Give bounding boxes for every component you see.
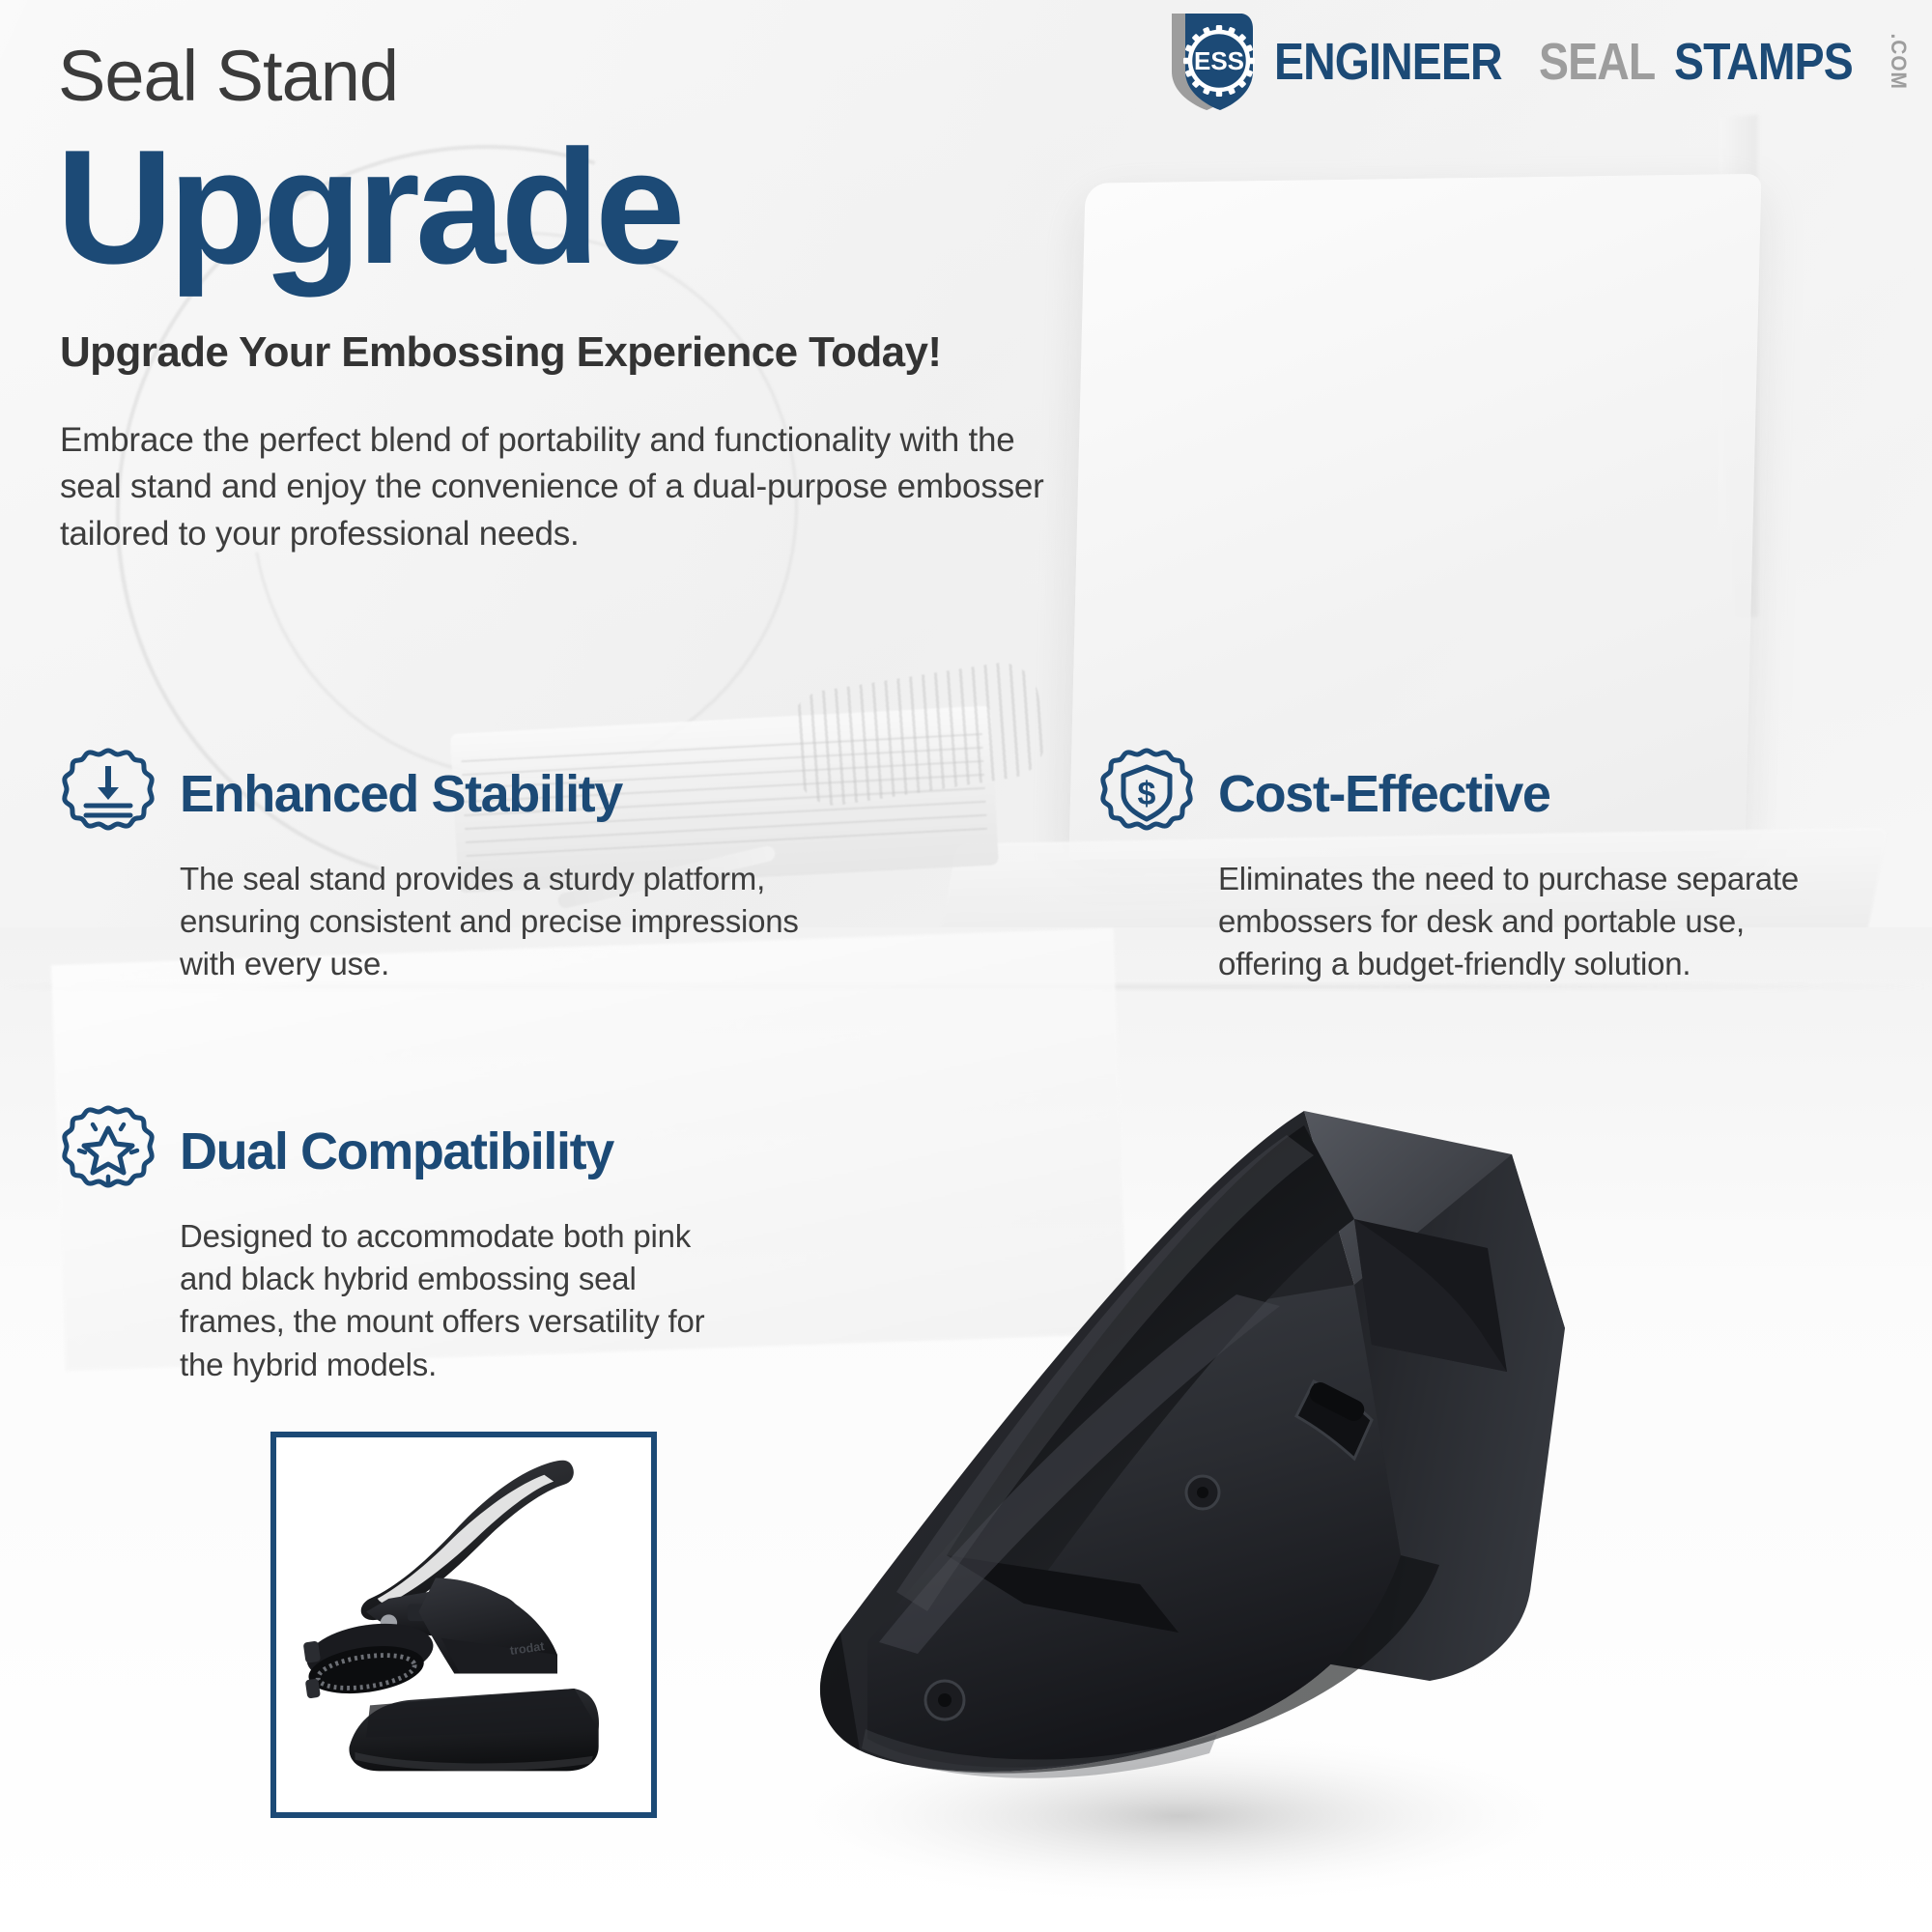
ess-badge-label: ESS: [1194, 46, 1244, 75]
infographic-poster: ESS ENGINEER SEAL STAMPS .COM Seal Stand…: [0, 0, 1932, 1932]
emboss-press-badge-icon: [58, 744, 158, 844]
inset-product-photo: trodat: [270, 1432, 657, 1818]
feature-enhanced-stability: Enhanced Stability The seal stand provid…: [58, 744, 898, 986]
feature-title: Enhanced Stability: [180, 768, 622, 820]
feature-header: $ Cost-Effective: [1096, 744, 1908, 844]
brand-wordmark: ENGINEER SEAL STAMPS .COM: [1274, 32, 1911, 91]
page-subheading: Upgrade Your Embossing Experience Today!: [60, 328, 941, 377]
wordmark-stamps: STAMPS: [1674, 36, 1853, 88]
feature-title: Dual Compatibility: [180, 1125, 613, 1178]
star-sparkle-badge-icon: [58, 1101, 158, 1202]
feature-title: Cost-Effective: [1218, 768, 1549, 820]
wordmark-tld: .COM: [1886, 34, 1911, 90]
feature-cost-effective: $ Cost-Effective Eliminates the need to …: [1096, 744, 1908, 986]
feature-header: Enhanced Stability: [58, 744, 898, 844]
page-intro-paragraph: Embrace the perfect blend of portability…: [60, 417, 1055, 557]
page-kicker: Seal Stand: [58, 41, 398, 112]
hero-product-seal-stand-image: [638, 966, 1932, 1932]
wordmark-seal: SEAL: [1539, 36, 1655, 88]
page-title: Upgrade: [56, 126, 680, 288]
brand-logo[interactable]: ESS ENGINEER SEAL STAMPS .COM: [1164, 10, 1911, 114]
wordmark-engineer: ENGINEER: [1274, 36, 1502, 88]
dollar-glyph: $: [1138, 776, 1156, 812]
shield-dollar-badge-icon: $: [1096, 744, 1197, 844]
ess-gear-badge-icon: ESS: [1164, 10, 1264, 114]
